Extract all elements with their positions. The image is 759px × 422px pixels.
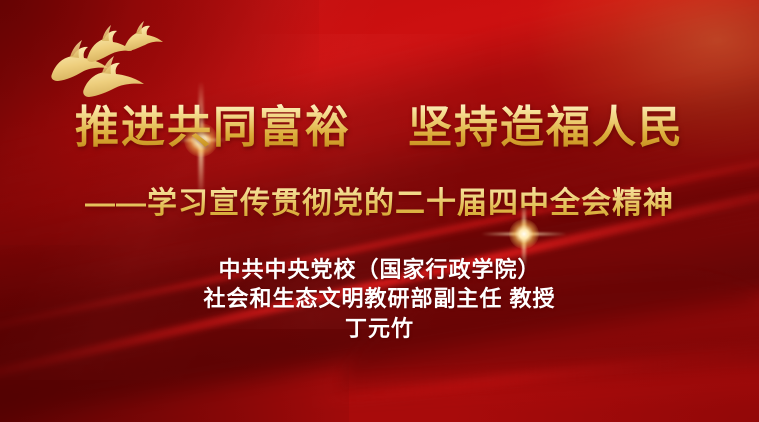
title-slide: 推进共同富裕 坚持造福人民 ——学习宣传贯彻党的二十届四中全会精神 中共中央党校… [0,0,759,422]
byline-department-title: 社会和生态文明教研部副主任 教授 [0,284,759,313]
text-layer: 推进共同富裕 坚持造福人民 ——学习宣传贯彻党的二十届四中全会精神 中共中央党校… [0,0,759,422]
byline-speaker-name: 丁元竹 [0,314,759,343]
speaker-byline: 中共中央党校（国家行政学院） 社会和生态文明教研部副主任 教授 丁元竹 [0,255,759,343]
slide-main-title: 推进共同富裕 坚持造福人民 [0,104,759,152]
slide-subtitle: ——学习宣传贯彻党的二十届四中全会精神 [0,178,759,222]
byline-organization: 中共中央党校（国家行政学院） [0,255,759,284]
